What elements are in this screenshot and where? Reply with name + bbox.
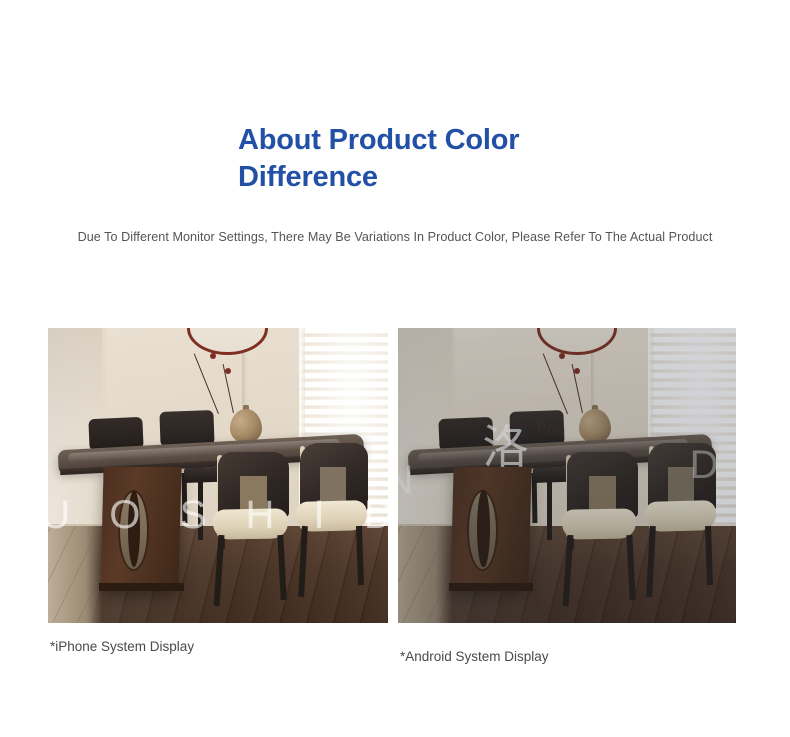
floor-tile-lines (398, 526, 452, 623)
iphone-display-caption: *iPhone System Display (50, 638, 230, 656)
table-base-cutout-inner (128, 490, 140, 567)
floor-tile-lines (48, 526, 102, 623)
blossom (559, 353, 565, 359)
ceramic-vase (579, 409, 611, 443)
chair-leg (547, 481, 552, 540)
color-difference-section: About Product Color Difference Due To Di… (0, 0, 790, 737)
table-base-cutout-inner (477, 490, 489, 567)
blossom (210, 353, 216, 359)
blossom (225, 368, 231, 374)
blossom (574, 368, 580, 374)
chair-leg (198, 481, 203, 540)
android-display-caption: *Android System Display (400, 648, 620, 666)
android-display-photo: N D 洛 Poe (398, 328, 736, 623)
dining-room-scene-cool: N D 洛 Poe (398, 328, 736, 623)
table-base-foot (449, 583, 534, 590)
iphone-display-photo: U O S H I D (48, 328, 388, 623)
ceramic-vase (230, 409, 262, 443)
dining-room-scene-warm: U O S H I D (48, 328, 388, 623)
table-base-foot (99, 583, 184, 590)
page-title: About Product Color Difference (238, 122, 568, 195)
color-difference-disclaimer: Due To Different Monitor Settings, There… (0, 230, 790, 244)
